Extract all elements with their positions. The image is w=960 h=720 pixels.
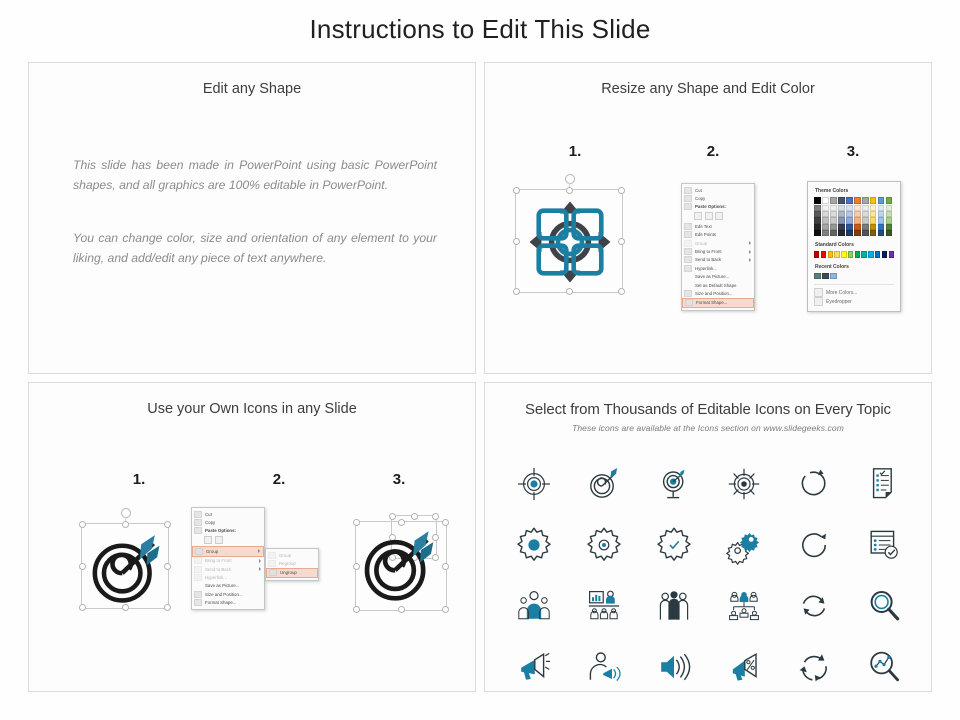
theme-tint-column-5 xyxy=(846,205,853,236)
group-icon xyxy=(684,240,692,247)
paste-option-2-icon[interactable] xyxy=(705,212,713,220)
panel-edit-any-shape: Edit any Shape This slide has been made … xyxy=(28,62,476,374)
rotate-handle[interactable] xyxy=(565,174,575,184)
menu-item-bring-to-front: Bring to Front xyxy=(192,557,264,565)
standard-colors-label: Standard Colors xyxy=(815,242,894,248)
menu-item-label: Group xyxy=(695,241,746,246)
icon-cell-2-5[interactable] xyxy=(791,522,837,568)
people-group-icon xyxy=(514,586,554,626)
size-position-icon xyxy=(194,591,202,598)
paste-icon xyxy=(684,203,692,210)
more-colors-icon xyxy=(814,288,823,297)
menu-item-format-shape[interactable]: Format Shape... xyxy=(682,298,754,308)
resize-step-number-3: 3. xyxy=(833,143,873,160)
menu-item-send-to-back[interactable]: Send to Back xyxy=(682,256,754,264)
icon-cell-1-3[interactable] xyxy=(651,461,697,507)
resize-handle-middle-right[interactable] xyxy=(618,238,625,245)
theme-tint-6-5[interactable] xyxy=(854,230,861,236)
figure-ungrouped-icon[interactable] xyxy=(347,511,457,621)
rotate-clockwise-arrow-icon xyxy=(794,464,834,504)
panel-own-icons: Use your Own Icons in any Slide 1. 2. 3. xyxy=(28,382,476,692)
menu-item-label: Group xyxy=(279,553,315,558)
theme-color-swatch-5[interactable] xyxy=(846,197,853,204)
menu-item-group[interactable]: Group xyxy=(192,546,264,556)
theme-color-swatch-4[interactable] xyxy=(838,197,845,204)
menu-item-label: Save as Picture... xyxy=(695,274,751,279)
resize-handle-bottom-middle[interactable] xyxy=(398,606,405,613)
resize-handle-top-left[interactable] xyxy=(79,521,86,528)
icon-cell-2-2[interactable] xyxy=(581,522,627,568)
person-announce-icon xyxy=(584,647,624,687)
icon-cell-2-3[interactable] xyxy=(651,522,697,568)
theme-tint-column-6 xyxy=(854,205,861,236)
menu-item-save-as-picture[interactable]: Save as Picture... xyxy=(682,273,754,281)
theme-color-swatch-3[interactable] xyxy=(830,197,837,204)
icon-cell-4-3[interactable] xyxy=(651,644,697,690)
resize-handle-top-middle[interactable] xyxy=(122,521,129,528)
recent-color-swatch-2[interactable] xyxy=(822,273,829,280)
menu-item-label: Group xyxy=(206,549,255,554)
group-icon xyxy=(268,552,276,559)
menu-item-label: Cut xyxy=(205,512,261,517)
copy-icon xyxy=(194,519,202,526)
menu-item-label: Ungroup xyxy=(280,570,314,575)
icon-cell-3-1[interactable] xyxy=(511,583,557,629)
icon-cell-4-6[interactable] xyxy=(861,644,907,690)
menu-item-size-and-position[interactable]: Size and Position... xyxy=(682,289,754,297)
resize-handle-top-middle[interactable] xyxy=(411,513,418,520)
magnifier-chart-icon xyxy=(864,647,904,687)
menu-item-copy[interactable]: Copy xyxy=(192,518,264,526)
menu-item-cut[interactable]: Cut xyxy=(192,510,264,518)
selection-frame[interactable] xyxy=(515,189,623,293)
group-submenu[interactable]: GroupRegroupUngroup xyxy=(265,548,319,581)
menu-item-label: Send to Back xyxy=(205,567,256,572)
icon-library-subtitle: These icons are available at the Icons s… xyxy=(485,423,931,433)
panel-title-own-icons: Use your Own Icons in any Slide xyxy=(29,401,475,417)
icons-step-number-1: 1. xyxy=(119,471,159,488)
target-on-stand-icon xyxy=(654,464,694,504)
menu-item-save-as-picture[interactable]: Save as Picture... xyxy=(192,582,264,590)
menu-item-cut[interactable]: Cut xyxy=(682,186,754,194)
size-position-icon xyxy=(684,290,692,297)
theme-tint-column-8 xyxy=(870,205,877,236)
circular-arrow-icon xyxy=(794,525,834,565)
menu-item-label: Hyperlink... xyxy=(695,266,751,271)
theme-color-swatch-8[interactable] xyxy=(870,197,877,204)
target-arrow-icon-ungrouped xyxy=(359,525,439,603)
theme-tint-3-5[interactable] xyxy=(830,230,837,236)
standard-color-swatch-12[interactable] xyxy=(889,251,894,258)
menu-item-copy[interactable]: Copy xyxy=(682,194,754,202)
menu-item-edit-points[interactable]: Edit Points xyxy=(682,231,754,239)
resize-handle-top-middle[interactable] xyxy=(566,187,573,194)
resize-handle-middle-right[interactable] xyxy=(164,563,171,570)
palette-divider xyxy=(814,284,894,285)
menu-item-label: Copy xyxy=(205,520,261,525)
theme-tint-column-3 xyxy=(830,205,837,236)
menu-item-label: Format Shape... xyxy=(205,600,261,605)
theme-tint-column-2 xyxy=(822,205,829,236)
icon-cell-3-6[interactable] xyxy=(861,583,907,629)
copy-icon xyxy=(684,195,692,202)
icon-grid xyxy=(499,453,919,697)
group-context-menu[interactable]: CutCopyPaste Options:GroupBring to Front… xyxy=(191,507,265,610)
paste-icon xyxy=(194,527,202,534)
icon-cell-1-1[interactable] xyxy=(511,461,557,507)
icon-cell-2-1[interactable] xyxy=(511,522,557,568)
icon-cell-2-6[interactable] xyxy=(861,522,907,568)
sniper-scope-icon xyxy=(724,464,764,504)
menu-item-label: Format Shape... xyxy=(696,300,750,305)
paste-option-3-icon[interactable] xyxy=(715,212,723,220)
standard-color-swatch-7[interactable] xyxy=(855,251,860,258)
menu-item-paste-options[interactable]: Paste Options: xyxy=(682,203,754,211)
icon-cell-1-6[interactable] xyxy=(861,461,907,507)
theme-tint-1-5[interactable] xyxy=(814,230,821,236)
hyperlink-icon xyxy=(684,265,692,272)
theme-color-swatch-1[interactable] xyxy=(814,197,821,204)
menu-item-label: Set as Default Shape xyxy=(695,283,751,288)
menu-item-label: Paste Options: xyxy=(205,528,261,533)
format-shape-icon xyxy=(685,299,693,306)
edit-text-icon xyxy=(684,223,692,230)
slide-canvas: Instructions to Edit This Slide Edit any… xyxy=(0,0,960,720)
speaker-icon xyxy=(654,647,694,687)
recycle-arrows-icon xyxy=(794,647,834,687)
recent-color-swatch-3[interactable] xyxy=(830,273,837,280)
scissors-icon xyxy=(194,511,202,518)
standard-colors-row[interactable] xyxy=(814,251,894,258)
edit-points-icon xyxy=(684,231,692,238)
rotate-handle[interactable] xyxy=(121,508,131,518)
more-colors-button[interactable]: More Colors... xyxy=(814,288,894,297)
paste-options-row[interactable] xyxy=(192,535,264,546)
icon-cell-3-2[interactable] xyxy=(581,583,627,629)
theme-tint-2-5[interactable] xyxy=(822,230,829,236)
menu-item-label: Paste Options: xyxy=(695,204,751,209)
icon-cell-3-5[interactable] xyxy=(791,583,837,629)
submenu-arrow-icon xyxy=(749,258,751,262)
more-colors-label: More Colors... xyxy=(826,290,857,296)
recent-colors-label: Recent Colors xyxy=(815,264,894,270)
crosshair-target-icon xyxy=(514,464,554,504)
edit-shape-paragraph-2: You can change color, size and orientati… xyxy=(73,228,437,268)
checklist-approved-icon xyxy=(864,525,904,565)
resize-handle-middle-right[interactable] xyxy=(442,563,449,570)
theme-tint-column-4 xyxy=(838,205,845,236)
submenu-arrow-icon xyxy=(749,241,751,245)
resize-step-number-2: 2. xyxy=(693,143,733,160)
resize-handle-top-right[interactable] xyxy=(432,513,439,520)
theme-tint-5-5[interactable] xyxy=(846,230,853,236)
theme-tint-10-5[interactable] xyxy=(886,230,893,236)
menu-item-label: Size and Position... xyxy=(695,291,751,296)
panel-resize-shape: Resize any Shape and Edit Color 1. 2. 3. xyxy=(484,62,932,374)
menu-item-label: Copy xyxy=(695,196,751,201)
selection-frame-grouped[interactable] xyxy=(81,523,169,609)
theme-color-swatch-9[interactable] xyxy=(878,197,885,204)
standard-color-swatch-4[interactable] xyxy=(834,251,839,258)
menu-item-label: Edit Points xyxy=(695,232,751,237)
theme-tint-7-5[interactable] xyxy=(862,230,869,236)
context-submenu-items-group: GroupRegroupUngroup xyxy=(266,551,318,578)
eyedropper-button[interactable]: Eyedropper xyxy=(814,297,894,306)
theme-tint-8-5[interactable] xyxy=(870,230,877,236)
menu-item-paste-options[interactable]: Paste Options: xyxy=(192,527,264,535)
figure-selected-shape[interactable] xyxy=(511,181,631,301)
menu-item-label: Send to Back xyxy=(695,257,746,262)
standard-color-swatch-9[interactable] xyxy=(868,251,873,258)
icon-cell-2-4[interactable] xyxy=(721,522,767,568)
menu-item-label: Save as Picture... xyxy=(205,583,261,588)
icon-cell-1-4[interactable] xyxy=(721,461,767,507)
target-arrow-icon xyxy=(87,529,165,605)
double-gears-icon xyxy=(724,525,764,565)
theme-color-swatch-10[interactable] xyxy=(886,197,893,204)
sync-arrows-icon xyxy=(794,586,834,626)
theme-tint-column-7 xyxy=(862,205,869,236)
megaphone-percent-icon xyxy=(724,647,764,687)
hyperlink-icon xyxy=(194,574,202,581)
gear-filled-icon xyxy=(514,525,554,565)
theme-color-palette[interactable]: Theme Colors Standard Colors Recent Colo… xyxy=(807,181,901,312)
context-menu-items-shape: CutCopyPaste Options:Edit TextEdit Point… xyxy=(682,186,754,308)
standard-color-swatch-10[interactable] xyxy=(875,251,880,258)
icons-step-number-2: 2. xyxy=(259,471,299,488)
theme-tints-grid[interactable] xyxy=(814,205,894,236)
send-back-icon xyxy=(684,256,692,263)
icon-cell-4-5[interactable] xyxy=(791,644,837,690)
theme-color-swatch-7[interactable] xyxy=(862,197,869,204)
menu-item-label: Edit Text xyxy=(695,224,751,229)
panel-title-edit-shape: Edit any Shape xyxy=(29,81,475,97)
context-menu-items-group: CutCopyPaste Options:GroupBring to Front… xyxy=(192,510,264,607)
menu-item-set-as-default-shape[interactable]: Set as Default Shape xyxy=(682,281,754,289)
resize-handle-bottom-left[interactable] xyxy=(353,606,360,613)
theme-tint-column-9 xyxy=(878,205,885,236)
menu-item-format-shape[interactable]: Format Shape... xyxy=(192,599,264,607)
bring-front-icon xyxy=(194,557,202,564)
org-chart-team-icon xyxy=(724,586,764,626)
icon-cell-4-4[interactable] xyxy=(721,644,767,690)
edit-shape-paragraph-1: This slide has been made in PowerPoint u… xyxy=(73,155,437,195)
page-title: Instructions to Edit This Slide xyxy=(0,14,960,45)
paste-option-2-icon[interactable] xyxy=(215,536,223,544)
menu-item-edit-text[interactable]: Edit Text xyxy=(682,222,754,230)
resize-handle-bottom-right[interactable] xyxy=(164,604,171,611)
resize-handle-top-left[interactable] xyxy=(513,187,520,194)
scissors-icon xyxy=(684,187,692,194)
icons-step-number-3: 3. xyxy=(379,471,419,488)
menu-item-ungroup[interactable]: Ungroup xyxy=(266,568,318,578)
resize-handle-top-left[interactable] xyxy=(389,513,396,520)
recent-color-swatch-1[interactable] xyxy=(814,273,821,280)
gear-small-icon xyxy=(584,525,624,565)
theme-tint-9-5[interactable] xyxy=(878,230,885,236)
resize-handle-bottom-right[interactable] xyxy=(618,288,625,295)
figure-grouped-icon[interactable] xyxy=(71,511,181,621)
resize-handle-top-right[interactable] xyxy=(442,519,449,526)
four-square-circle-shape-icon xyxy=(522,196,618,288)
submenu-arrow-icon xyxy=(259,567,261,571)
panel-icon-library: Select from Thousands of Editable Icons … xyxy=(484,382,932,692)
ungroup-icon xyxy=(269,569,277,576)
resize-handle-middle-left[interactable] xyxy=(79,563,86,570)
training-presentation-icon xyxy=(584,586,624,626)
team-people-icon xyxy=(654,586,694,626)
menu-item-label: Size and Position... xyxy=(205,592,261,597)
checklist-document-icon xyxy=(864,464,904,504)
theme-tint-column-10 xyxy=(886,205,893,236)
submenu-arrow-icon xyxy=(259,559,261,563)
menu-item-hyperlink: Hyperlink... xyxy=(192,573,264,581)
menu-item-group: Group xyxy=(266,551,318,559)
menu-item-label: Bring to Front xyxy=(205,558,256,563)
magnifier-icon xyxy=(864,586,904,626)
menu-item-label: Cut xyxy=(695,188,751,193)
group-icon xyxy=(195,548,203,555)
standard-color-swatch-2[interactable] xyxy=(821,251,826,258)
resize-handle-bottom-middle[interactable] xyxy=(122,604,129,611)
submenu-arrow-icon xyxy=(749,250,751,254)
theme-colors-label: Theme Colors xyxy=(815,188,894,194)
menu-item-size-and-position[interactable]: Size and Position... xyxy=(192,590,264,598)
menu-item-hyperlink[interactable]: Hyperlink... xyxy=(682,264,754,272)
eyedropper-icon xyxy=(814,297,823,306)
icon-cell-3-4[interactable] xyxy=(721,583,767,629)
megaphone-icon xyxy=(514,647,554,687)
icon-cell-4-1[interactable] xyxy=(511,644,557,690)
submenu-arrow-icon xyxy=(258,549,260,553)
eyedropper-label: Eyedropper xyxy=(826,299,852,305)
menu-item-regroup: Regroup xyxy=(266,559,318,567)
panel-title-icon-library: Select from Thousands of Editable Icons … xyxy=(485,401,931,418)
resize-handle-bottom-right[interactable] xyxy=(442,606,449,613)
theme-color-swatch-2[interactable] xyxy=(822,197,829,204)
menu-item-label: Bring to Front xyxy=(695,249,746,254)
menu-item-group: Group xyxy=(682,239,754,247)
bring-front-icon xyxy=(684,248,692,255)
theme-colors-row[interactable] xyxy=(814,197,894,204)
paste-options-row[interactable] xyxy=(682,211,754,222)
standard-color-swatch-6[interactable] xyxy=(848,251,853,258)
resize-handle-bottom-left[interactable] xyxy=(79,604,86,611)
theme-color-swatch-6[interactable] xyxy=(854,197,861,204)
standard-color-swatch-5[interactable] xyxy=(841,251,846,258)
resize-step-number-1: 1. xyxy=(555,143,595,160)
paste-option-1-icon[interactable] xyxy=(204,536,212,544)
menu-item-label: Hyperlink... xyxy=(205,575,261,580)
dartboard-arrow-icon xyxy=(584,464,624,504)
resize-handle-top-right[interactable] xyxy=(164,521,171,528)
resize-handle-middle-left[interactable] xyxy=(513,238,520,245)
standard-color-swatch-1[interactable] xyxy=(814,251,819,258)
paste-option-1-icon[interactable] xyxy=(694,212,702,220)
standard-color-swatch-11[interactable] xyxy=(882,251,887,258)
theme-tint-4-5[interactable] xyxy=(838,230,845,236)
standard-color-swatch-8[interactable] xyxy=(861,251,866,258)
icon-cell-1-5[interactable] xyxy=(791,461,837,507)
menu-item-label: Regroup xyxy=(279,561,315,566)
recent-colors-row[interactable] xyxy=(814,273,894,280)
menu-item-bring-to-front[interactable]: Bring to Front xyxy=(682,247,754,255)
regroup-icon xyxy=(268,560,276,567)
menu-item-send-to-back: Send to Back xyxy=(192,565,264,573)
shape-context-menu[interactable]: CutCopyPaste Options:Edit TextEdit Point… xyxy=(681,183,755,311)
gear-check-icon xyxy=(654,525,694,565)
icon-cell-1-2[interactable] xyxy=(581,461,627,507)
send-back-icon xyxy=(194,566,202,573)
resize-handle-bottom-left[interactable] xyxy=(513,288,520,295)
standard-color-swatch-3[interactable] xyxy=(828,251,833,258)
icon-cell-4-2[interactable] xyxy=(581,644,627,690)
resize-handle-bottom-middle[interactable] xyxy=(566,288,573,295)
panel-title-resize-shape: Resize any Shape and Edit Color xyxy=(485,81,931,97)
theme-tint-column-1 xyxy=(814,205,821,236)
format-shape-icon xyxy=(194,599,202,606)
resize-handle-top-right[interactable] xyxy=(618,187,625,194)
icon-cell-3-3[interactable] xyxy=(651,583,697,629)
